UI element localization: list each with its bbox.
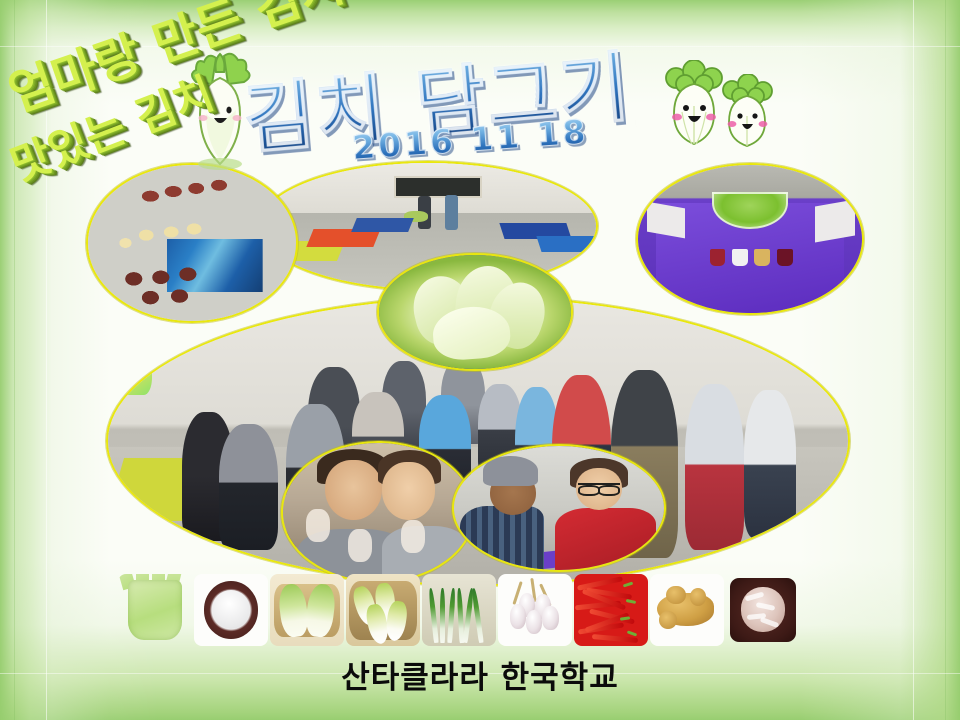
plaid-shirt xyxy=(460,506,544,570)
photo-mom-child xyxy=(281,441,475,583)
photo-purple-table-image xyxy=(638,165,862,313)
event-date: 2016 11 18 xyxy=(351,112,590,167)
gloved-hand xyxy=(306,509,331,542)
footer: 산타클라라 한국학교 xyxy=(0,652,960,697)
photo-cabbage-image xyxy=(379,255,571,369)
radish-mascot-icon xyxy=(186,52,260,170)
photo-volunteers-image xyxy=(454,446,664,570)
title-block: 김치 담그기 2016 11 18 xyxy=(0,34,960,164)
ingredient-cup xyxy=(777,249,793,265)
ginger-knob xyxy=(659,611,677,628)
gloved-hand xyxy=(348,529,373,562)
border-seam xyxy=(913,0,914,720)
slogan-line-1: 엄마랑 만든 김치 xyxy=(0,0,352,126)
ingredient-gloves xyxy=(118,574,192,646)
garlic-bulb xyxy=(542,606,558,630)
photo-purple-table xyxy=(636,163,864,315)
tray xyxy=(647,202,685,238)
ingredient-napa-cabbage xyxy=(270,574,344,646)
photo-mom-child-image xyxy=(283,443,473,581)
ingredient-radish xyxy=(346,574,420,646)
photo-prep-table xyxy=(86,163,298,323)
garlic-bulb xyxy=(510,604,526,628)
border-seam xyxy=(46,0,47,720)
ingredient-cup xyxy=(754,249,770,265)
ginger-knob xyxy=(690,588,706,605)
person xyxy=(219,424,278,550)
photo-volunteers xyxy=(452,444,666,572)
ingredient-red-chili xyxy=(574,574,648,646)
beanie-hat xyxy=(483,456,538,486)
border-seam xyxy=(945,0,946,720)
cabbage-mascot-icon xyxy=(718,74,776,148)
ingredient-garlic xyxy=(498,574,572,646)
slogan-overlay: 엄마랑 만든 김치 맛있는 김치 xyxy=(0,0,350,133)
red-jacket xyxy=(555,508,656,570)
chili-stem xyxy=(623,581,634,587)
ginger-knob xyxy=(666,586,685,605)
person xyxy=(445,195,458,230)
face xyxy=(325,460,382,521)
ingredient-salt xyxy=(194,574,268,646)
ingredient-strip xyxy=(118,570,818,646)
photo-cabbage xyxy=(377,253,573,371)
table xyxy=(351,218,414,232)
glove-palm xyxy=(128,580,181,640)
gloved-hand xyxy=(401,520,426,553)
garlic-bulb xyxy=(526,610,542,634)
kimchi-poster: 김치 담그기 2016 11 18 xyxy=(0,0,960,720)
chili-stem xyxy=(627,630,638,636)
ingredient-ginger xyxy=(650,574,724,646)
chili-pepper xyxy=(592,634,638,643)
ingredient-cup xyxy=(732,249,748,265)
ingredient-green-onion xyxy=(422,574,496,646)
salt-pile xyxy=(212,590,250,629)
person xyxy=(685,384,744,550)
scallion-stalk xyxy=(428,588,439,643)
ingredient-cup xyxy=(710,249,726,265)
border-seam xyxy=(14,0,15,720)
ingredient-salted-shrimp xyxy=(726,574,800,646)
scallion-stalk xyxy=(440,588,445,643)
person xyxy=(744,390,796,539)
face xyxy=(382,462,435,520)
glasses-icon xyxy=(578,483,620,492)
school-name: 산타클라라 한국학교 xyxy=(341,660,618,696)
tray xyxy=(815,200,855,243)
table xyxy=(536,236,598,252)
photo-prep-table-image xyxy=(88,165,296,321)
scallion-stalk xyxy=(447,588,456,643)
border-seam xyxy=(0,46,960,47)
scallion-stalk xyxy=(471,588,484,643)
chili-stem xyxy=(626,599,637,604)
notice-board xyxy=(394,176,481,199)
